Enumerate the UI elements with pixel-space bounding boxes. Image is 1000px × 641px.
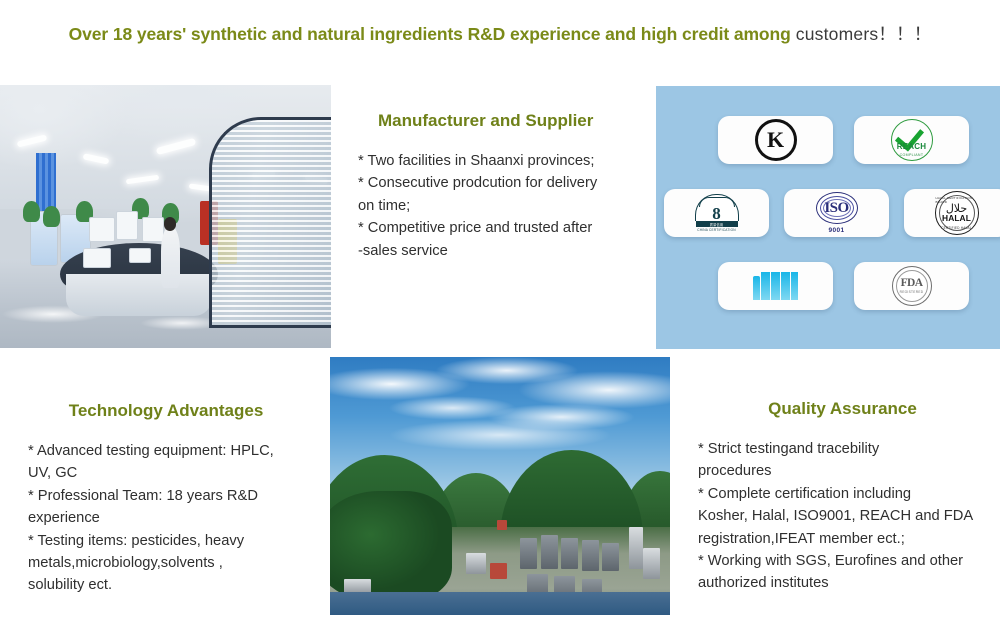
- apartment-building: [582, 540, 599, 571]
- manufacturer-body: * Two facilities in Shaanxi provinces; *…: [356, 150, 656, 262]
- kosher-icon: K: [755, 119, 797, 161]
- slide-root: Over 18 years' synthetic and natural ing…: [0, 0, 1000, 641]
- eight-mark: 8: [712, 206, 721, 221]
- cert-badge-iso[interactable]: ISO 9001: [784, 189, 889, 237]
- cert-badge-fda[interactable]: FDA REGISTERED: [854, 262, 969, 310]
- lab-instrument: [83, 248, 111, 268]
- halal-icon: HALAL CERTIFICATION BOARD حلال HALAL CER…: [935, 191, 979, 235]
- iso-number: 9001: [828, 227, 844, 234]
- ifeat-icon: [753, 272, 798, 300]
- town-building: [629, 527, 643, 568]
- cert-badge-halal[interactable]: HALAL CERTIFICATION BOARD حلال HALAL CER…: [904, 189, 1000, 237]
- fda-icon: FDA REGISTERED: [892, 266, 932, 306]
- quality-credit-icon: 8 质量信用 CHINA CERTIFICATION: [696, 194, 738, 232]
- iso-icon: ISO 9001: [811, 192, 863, 234]
- potted-plant: [23, 201, 40, 222]
- lab-instrument: [116, 211, 138, 239]
- ifeat-bar: [791, 272, 798, 300]
- window-curtain: [36, 153, 56, 211]
- cert-badge-kosher[interactable]: K: [718, 116, 833, 164]
- apartment-building: [520, 538, 537, 569]
- halal-mark: HALAL: [942, 213, 971, 223]
- town-building: [466, 553, 486, 574]
- fda-sub: REGISTERED: [900, 290, 924, 294]
- manufacturer-title: Manufacturer and Supplier: [356, 110, 656, 132]
- quality-assurance-body: * Strict testingand tracebility procedur…: [690, 438, 995, 595]
- technology-section: Technology Advantages * Advanced testing…: [10, 400, 322, 597]
- lab-instrument: [129, 248, 151, 263]
- glass-partition: [209, 117, 331, 328]
- reach-mark: REACH: [897, 142, 926, 151]
- window-blinds: [212, 120, 331, 325]
- halal-top: HALAL CERTIFICATION BOARD: [936, 196, 978, 204]
- apartment-building: [602, 543, 619, 571]
- eight-sub: CHINA CERTIFICATION: [697, 228, 736, 232]
- lab-workbench-base: [66, 274, 212, 316]
- quality-assurance-title: Quality Assurance: [690, 398, 995, 420]
- cert-badge-china-quality[interactable]: 8 质量信用 CHINA CERTIFICATION: [664, 189, 769, 237]
- certification-badge-grid: K REACH COMPLIANT 8 质量信用 CHINA CERTI: [656, 86, 1000, 349]
- lab-technician: [161, 227, 181, 287]
- headline-primary: Over 18 years' synthetic and natural ing…: [69, 24, 791, 44]
- cert-badge-reach[interactable]: REACH COMPLIANT: [854, 116, 969, 164]
- badge-dome: 8: [695, 194, 739, 221]
- ifeat-bar: [781, 272, 790, 300]
- cert-badge-ifeat[interactable]: [718, 262, 833, 310]
- manufacturer-section: Manufacturer and Supplier * Two faciliti…: [356, 110, 656, 262]
- reach-icon: REACH COMPLIANT: [891, 119, 933, 161]
- technology-body: * Advanced testing equipment: HPLC, UV, …: [10, 440, 322, 597]
- lab-instrument: [142, 217, 164, 243]
- arabic-script-icon: حلال: [946, 204, 967, 213]
- red-roof-building: [490, 563, 507, 578]
- quality-assurance-section: Quality Assurance * Strict testingand tr…: [690, 398, 995, 595]
- laboratory-panorama-image: [0, 85, 331, 348]
- halal-sub: CERTIFIED HALAL: [941, 226, 972, 230]
- town-building: [643, 548, 660, 579]
- technology-title: Technology Advantages: [10, 400, 322, 422]
- page-headline: Over 18 years' synthetic and natural ing…: [0, 22, 1000, 46]
- facility-location-panorama-image: [330, 357, 670, 615]
- ifeat-bar: [761, 272, 770, 300]
- reach-sub: COMPLIANT: [900, 153, 924, 157]
- ifeat-bar: [771, 272, 780, 300]
- kosher-mark: K: [767, 129, 784, 151]
- river: [330, 592, 670, 615]
- potted-plant: [43, 206, 60, 227]
- fda-mark: FDA: [901, 278, 923, 289]
- iso-mark: ISO: [824, 200, 848, 217]
- lab-instrument: [89, 217, 114, 243]
- badge-arc: [699, 197, 735, 207]
- red-roof-building: [497, 520, 507, 530]
- apartment-building: [561, 538, 578, 569]
- certifications-panel: K REACH COMPLIANT 8 质量信用 CHINA CERTI: [656, 86, 1000, 349]
- apartment-building: [541, 535, 558, 569]
- ifeat-bar: [753, 276, 760, 300]
- headline-secondary: customers！！！: [791, 24, 932, 44]
- iso-ring: ISO: [816, 192, 858, 224]
